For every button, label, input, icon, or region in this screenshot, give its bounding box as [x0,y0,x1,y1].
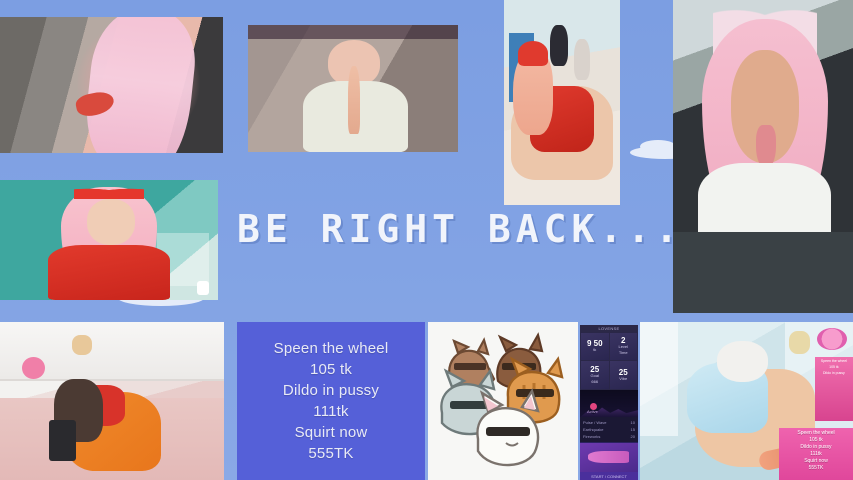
app-pattern-list[interactable]: Pulse / Wave 10 Earthquake 15 Fireworks … [580,417,638,442]
video-tile-top-third[interactable] [504,0,620,205]
app-stat-cell: 9 50 tk [581,333,609,361]
red-horns-icon [74,185,144,199]
pink-menu-line: Dildo in pussy [780,444,852,451]
subject-hair [81,17,200,153]
app-stat-grid: 9 50 tk 2 Level Time 25 Goal 666 25 Vibe [580,332,638,390]
video-tile-far-right[interactable] [673,0,853,313]
app-pattern-row[interactable]: Earthquake 15 [583,426,635,433]
app-activity-chart: Active [580,390,638,417]
channel-logo-icon [817,328,847,350]
badge-line: Speen the wheel [816,359,852,364]
phone-prop-icon [49,420,76,461]
tip-menu-line: 555TK [308,444,353,463]
page-title: BE RIGHT BACK... [237,205,637,253]
chibi-sticker-icon [550,25,567,66]
pattern-label: Pulse / Wave [583,419,606,426]
tip-menu-line: Dildo in pussy [283,381,379,400]
tip-menu-line: 111tk [313,402,348,421]
app-stat-cell: 25 Goal 666 [581,361,609,389]
pink-menu-line: 555TK [780,465,852,472]
plush-toy-icon [197,281,209,295]
stat-label: tk [593,347,596,352]
app-device-preview [580,442,638,472]
stat-value: 25 [619,370,628,375]
pattern-label: Earthquake [583,426,603,433]
pattern-value: 15 [631,426,635,433]
stat-value: 25 [590,367,599,372]
stat-label: Vibe [619,376,627,381]
room-shelf [640,322,678,436]
tip-menu-panel: Speen the wheel 105 tk Dildo in pussy 11… [237,322,425,480]
side-badge-panel: Speen the wheel 105 tk Dildo in pussy [815,357,853,421]
chibi-sticker-icon [574,39,590,80]
video-tile-bottom-right[interactable]: Speen the wheel 105 tk Dildo in pussy Sp… [640,322,853,480]
stat-sub: Time [619,350,628,355]
video-tile-mid-left[interactable] [0,180,218,300]
app-header: LOVENSE [580,325,638,332]
pink-menu-line: Speen the wheel [780,430,852,437]
pink-tip-menu-overlay: Speen the wheel 105 tk Dildo in pussy 11… [779,428,853,480]
pink-menu-line: 105 tk [780,437,852,444]
video-tile-top-left[interactable] [0,17,223,153]
pattern-label: Fireworks [583,433,600,440]
stat-label: Goal [591,373,599,378]
pink-menu-line: Squirt now [780,458,852,465]
chart-label: Active [587,409,598,414]
badge-line: Dildo in pussy [816,371,852,376]
app-pattern-row[interactable]: Pulse / Wave 10 [583,419,635,426]
tip-menu-line: Speen the wheel [274,339,389,358]
video-tile-bottom-left[interactable] [0,322,224,480]
tip-menu-line: 105 tk [310,360,352,379]
pink-menu-line: 111tk [780,451,852,458]
video-topbar [248,25,458,39]
video-tile-top-middle[interactable] [248,25,458,152]
tip-menu-line: Squirt now [295,423,368,442]
cats-illustration-panel [428,322,578,480]
stat-sub: 666 [591,379,598,384]
plush-toy-icon [789,331,810,353]
plush-toy-icon [72,335,92,356]
subject-hair [717,341,768,382]
four-cats-with-sunglasses-icon [432,327,574,475]
badge-line: 105 tk [816,365,852,370]
stat-value: 2 [621,338,625,343]
app-stat-cell: 2 Level Time [610,333,638,361]
app-connect-button[interactable]: START / CONNECT [580,472,638,480]
app-stat-cell: 25 Vibe [610,361,638,389]
app-pattern-row[interactable]: Fireworks 20 [583,433,635,440]
device-icon [588,451,629,463]
room-couch [673,232,853,313]
subject-cap [518,41,548,66]
lovense-app-overlay[interactable]: LOVENSE 9 50 tk 2 Level Time 25 Goal 666… [580,325,638,480]
subject-shirt [48,245,170,300]
subject-face [87,199,135,245]
stat-label: Level [618,344,628,349]
stream-brb-screen: Speen the wheel 105 tk Dildo in pussy 11… [0,0,853,480]
pattern-value: 10 [631,419,635,426]
stat-value: 9 50 [587,341,603,346]
subject-prop [348,66,361,135]
plush-toy-icon [22,357,44,379]
pattern-value: 20 [631,433,635,440]
